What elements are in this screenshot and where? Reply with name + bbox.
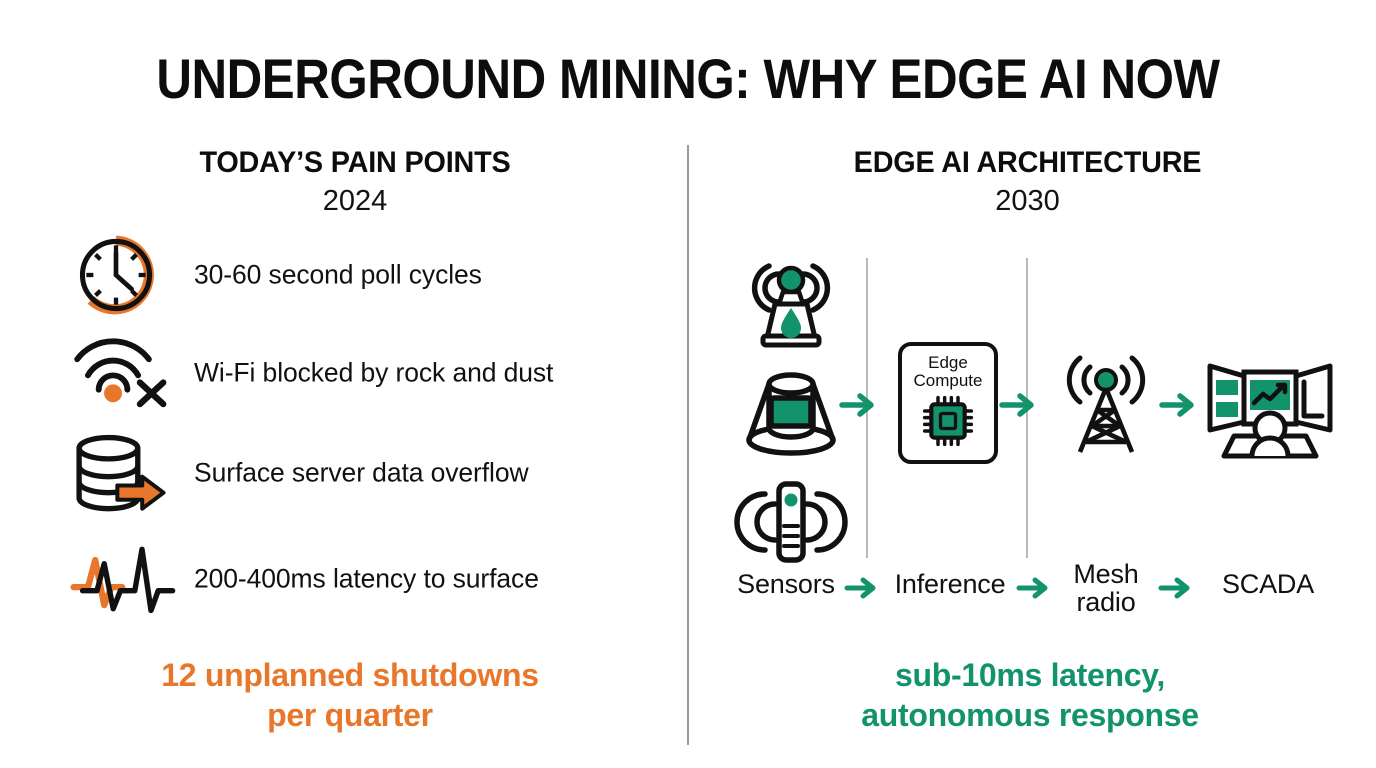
pain-point-row: 30-60 second poll cycles bbox=[70, 236, 650, 314]
stage-label-line: radio bbox=[1058, 588, 1154, 616]
edge-compute-label: Edge Compute bbox=[914, 354, 983, 391]
stage-label-line: Mesh bbox=[1058, 560, 1154, 588]
edge-label-line-2: Compute bbox=[914, 372, 983, 390]
label-arrow-icon bbox=[846, 576, 876, 600]
right-callout: sub-10ms latency, autonomous response bbox=[720, 655, 1340, 735]
infographic-canvas: UNDERGROUND MINING: WHY EDGE AI NOW TODA… bbox=[0, 0, 1376, 768]
sensor-stack bbox=[735, 246, 847, 582]
database-overflow-icon bbox=[70, 434, 180, 512]
right-callout-line-2: autonomous response bbox=[720, 695, 1340, 735]
flow-arrow-icon bbox=[1000, 392, 1034, 418]
stage-label-scada: SCADA bbox=[1208, 570, 1328, 598]
clock-icon bbox=[70, 236, 180, 314]
edge-compute-box: Edge Compute bbox=[898, 342, 998, 464]
left-callout-line-2: per quarter bbox=[40, 695, 660, 735]
radio-tower-icon bbox=[1058, 352, 1154, 456]
edge-label-line-1: Edge bbox=[914, 354, 983, 372]
latency-waveform-icon bbox=[70, 540, 180, 618]
left-callout: 12 unplanned shutdowns per quarter bbox=[40, 655, 660, 735]
gas-monitor-icon bbox=[735, 358, 847, 462]
right-year: 2030 bbox=[720, 185, 1335, 218]
wifi-blocked-icon bbox=[70, 334, 180, 412]
stage-label-row: Sensors Inference Mesh radio bbox=[718, 560, 1348, 632]
pain-point-text: Wi-Fi blocked by rock and dust bbox=[194, 358, 553, 389]
stage-label-line: Sensors bbox=[726, 570, 846, 598]
right-heading: EDGE AI ARCHITECTURE bbox=[732, 146, 1322, 180]
stage-label-line: Inference bbox=[878, 570, 1022, 598]
label-arrow-icon bbox=[1018, 576, 1048, 600]
cpu-chip-icon bbox=[923, 396, 973, 446]
center-divider bbox=[687, 145, 689, 745]
left-column-header: TODAY’S PAIN POINTS 2024 bbox=[55, 146, 655, 218]
stage-label-inference: Inference bbox=[878, 570, 1022, 598]
stage-label-mesh-radio: Mesh radio bbox=[1058, 560, 1154, 616]
pain-point-row: Wi-Fi blocked by rock and dust bbox=[70, 334, 650, 412]
beacon-sensor-icon bbox=[735, 246, 847, 350]
label-arrow-icon bbox=[1160, 576, 1190, 600]
flow-arrow-icon bbox=[840, 392, 874, 418]
pain-point-text: 30-60 second poll cycles bbox=[194, 260, 482, 291]
flow-arrow-icon bbox=[1160, 392, 1194, 418]
stage-label-line: SCADA bbox=[1208, 570, 1328, 598]
left-year: 2024 bbox=[55, 185, 655, 218]
right-callout-line-1: sub-10ms latency, bbox=[720, 655, 1340, 695]
right-column-header: EDGE AI ARCHITECTURE 2030 bbox=[720, 146, 1335, 218]
handheld-tag-icon bbox=[735, 470, 847, 574]
pain-point-row: Surface server data overflow bbox=[70, 434, 650, 512]
page-title: UNDERGROUND MINING: WHY EDGE AI NOW bbox=[83, 46, 1294, 111]
pain-point-text: Surface server data overflow bbox=[194, 458, 529, 489]
stage-label-sensors: Sensors bbox=[726, 570, 846, 598]
pain-point-row: 200-400ms latency to surface bbox=[70, 540, 650, 618]
left-callout-line-1: 12 unplanned shutdowns bbox=[40, 655, 660, 695]
scada-monitors-icon bbox=[1200, 358, 1340, 462]
left-heading: TODAY’S PAIN POINTS bbox=[67, 146, 643, 180]
pain-point-text: 200-400ms latency to surface bbox=[194, 564, 539, 595]
